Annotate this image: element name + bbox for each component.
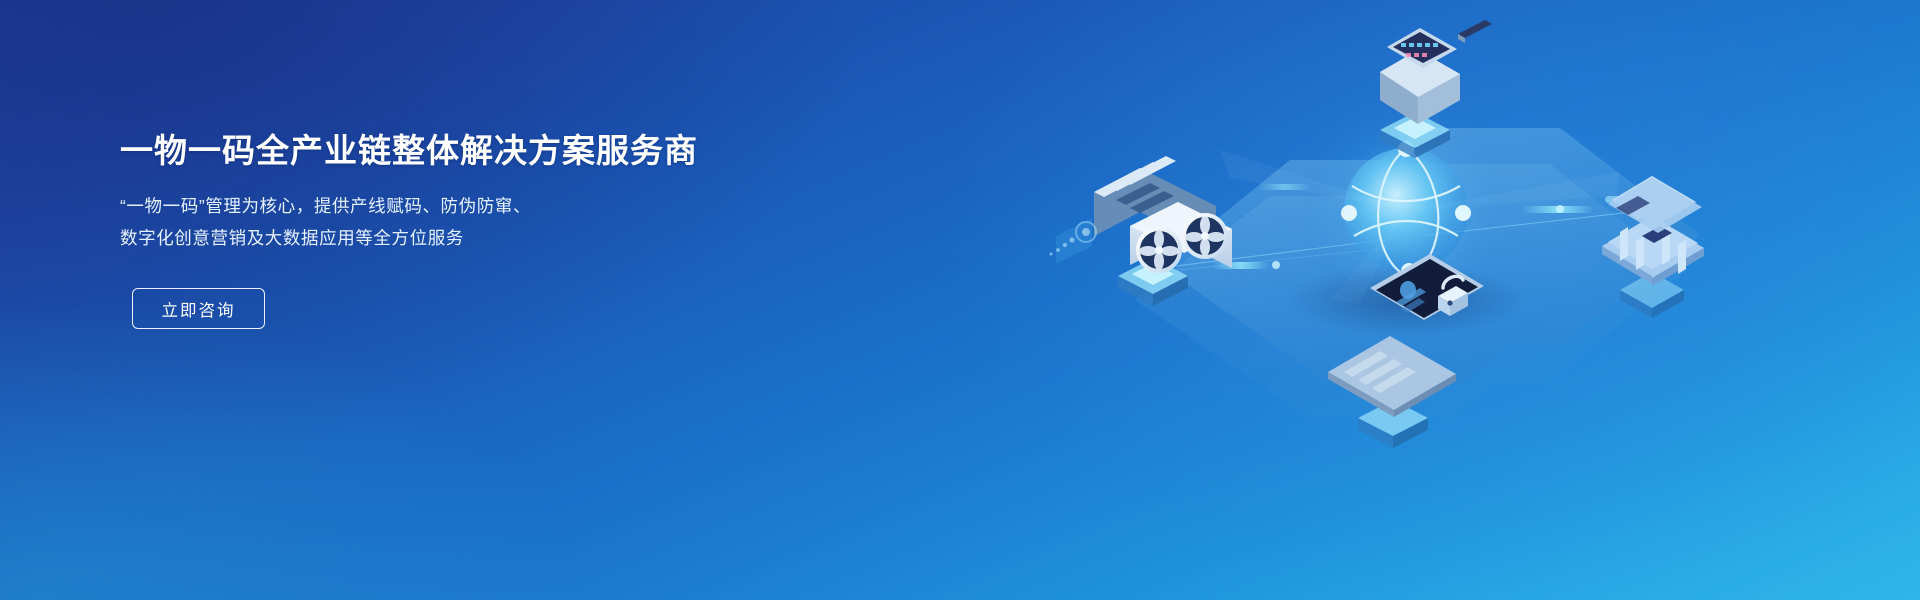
rack-fan-1 bbox=[1138, 229, 1180, 271]
isometric-network-illustration bbox=[860, 0, 1920, 600]
rack-airflow bbox=[1050, 218, 1097, 264]
hero-copy-block: 一物一码全产业链整体解决方案服务商 “一物一码”管理为核心，提供产线赋码、防伪防… bbox=[120, 130, 820, 329]
hero-banner: 一物一码全产业链整体解决方案服务商 “一物一码”管理为核心，提供产线赋码、防伪防… bbox=[0, 0, 1920, 600]
page-title: 一物一码全产业链整体解决方案服务商 bbox=[120, 130, 820, 171]
consult-now-button[interactable]: 立即咨询 bbox=[132, 288, 265, 329]
hero-subtitle: “一物一码”管理为核心，提供产线赋码、防伪防窜、 数字化创意营销及大数据应用等全… bbox=[120, 190, 820, 254]
subtitle-line-1: “一物一码”管理为核心，提供产线赋码、防伪防窜、 bbox=[120, 190, 820, 222]
rack-fan-2 bbox=[1184, 215, 1226, 257]
subtitle-line-2: 数字化创意营销及大数据应用等全方位服务 bbox=[120, 222, 820, 254]
